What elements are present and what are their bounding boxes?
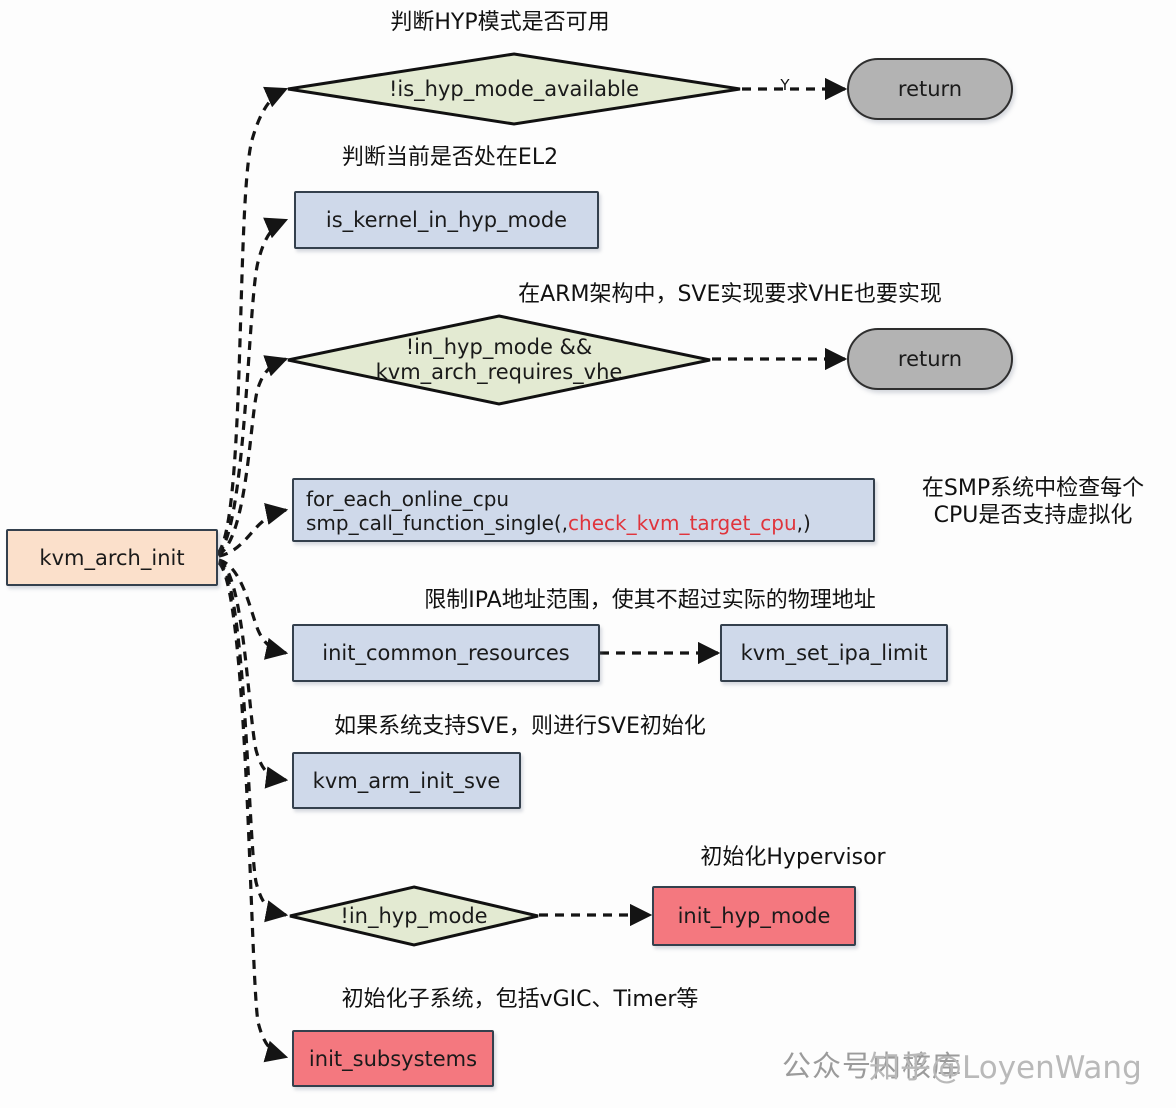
watermark-gongzhonghao: 公众号内核库	[782, 1043, 962, 1085]
node-label: return	[898, 77, 962, 101]
edge-to-init-subsystems	[219, 563, 286, 1057]
edge-to-in-hyp-mode	[219, 562, 286, 915]
node-code-line-1: for_each_online_cpu	[306, 487, 861, 511]
node-in-hyp-mode[interactable]: !in_hyp_mode	[288, 885, 540, 947]
diagram-canvas: kvm_arch_init 判断HYP模式是否可用 !is_hyp_mode_a…	[0, 0, 1176, 1108]
node-kvm-set-ipa-limit[interactable]: kvm_set_ipa_limit	[720, 624, 948, 682]
edge-to-requires-vhe	[218, 359, 286, 555]
edge-to-init-sve	[219, 561, 286, 780]
edge-to-hyp-available	[218, 89, 286, 553]
node-label: is_kernel_in_hyp_mode	[326, 208, 567, 232]
node-init-common-resources[interactable]: init_common_resources	[292, 624, 600, 682]
watermark-zhihu: 知乎@LoyenWang	[869, 1042, 1142, 1087]
node-return-1[interactable]: return	[847, 58, 1013, 120]
note-init-subsystems: 初始化子系统，包括vGIC、Timer等	[300, 987, 740, 1014]
node-code-line-2: smp_call_function_single(,check_kvm_targ…	[306, 511, 861, 535]
node-label: kvm_set_ipa_limit	[741, 641, 928, 665]
node-label: init_subsystems	[309, 1047, 477, 1071]
code-fragment-highlight: check_kvm_target_cpu	[568, 511, 797, 535]
node-for-each-online-cpu[interactable]: for_each_online_cpu smp_call_function_si…	[292, 478, 875, 542]
code-fragment-post: ,)	[797, 511, 811, 535]
note-in-hyp-mode: 初始化Hypervisor	[650, 845, 936, 872]
note-init-sve: 如果系统支持SVE，则进行SVE初始化	[300, 714, 740, 741]
note-each-online-cpu: 在SMP系统中检查每个 CPU是否支持虚拟化	[890, 476, 1176, 530]
node-is-kernel-in-hyp-mode[interactable]: is_kernel_in_hyp_mode	[294, 191, 599, 249]
node-label: init_common_resources	[322, 641, 569, 665]
note-requires-vhe: 在ARM架构中，SVE实现要求VHE也要实现	[470, 282, 990, 309]
node-is-hyp-mode-available[interactable]: !is_hyp_mode_available	[286, 52, 742, 126]
node-init-subsystems[interactable]: init_subsystems	[292, 1030, 494, 1087]
edge-to-kernel-in-hyp	[218, 220, 286, 554]
node-label: kvm_arm_init_sve	[313, 769, 501, 793]
node-kvm-arch-init[interactable]: kvm_arch_init	[6, 529, 218, 586]
node-kvm-arm-init-sve[interactable]: kvm_arm_init_sve	[292, 752, 521, 809]
note-kernel-in-hyp: 判断当前是否处在EL2	[300, 145, 600, 172]
edge-to-init-common-resources	[219, 560, 286, 653]
code-fragment-pre: smp_call_function_single(,	[306, 511, 568, 535]
note-hyp-available: 判断HYP模式是否可用	[330, 10, 670, 37]
edge-to-each-online-cpu	[219, 510, 286, 556]
node-label: init_hyp_mode	[678, 904, 831, 928]
node-kvm-arch-requires-vhe[interactable]: !in_hyp_mode && kvm_arch_requires_vhe	[286, 314, 712, 406]
node-return-2[interactable]: return	[847, 328, 1013, 390]
note-init-common-resources: 限制IPA地址范围，使其不超过实际的物理地址	[370, 588, 930, 615]
edge-label-y: Y	[770, 76, 800, 94]
node-init-hyp-mode[interactable]: init_hyp_mode	[652, 886, 856, 946]
node-label: return	[898, 347, 962, 371]
node-label: kvm_arch_init	[39, 546, 184, 570]
